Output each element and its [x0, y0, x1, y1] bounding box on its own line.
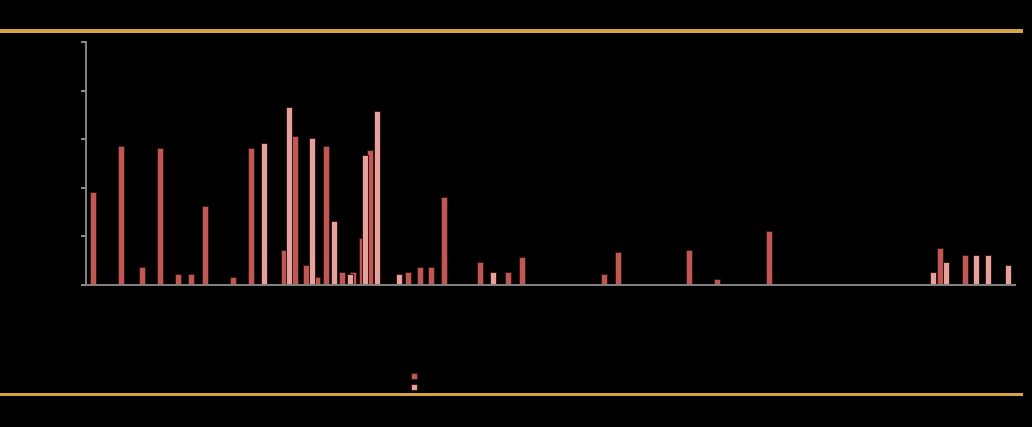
bar — [973, 255, 980, 284]
bar — [477, 262, 484, 284]
bar — [686, 250, 693, 284]
bar — [347, 274, 354, 284]
bar — [248, 148, 255, 284]
bar — [615, 252, 622, 284]
bar — [374, 111, 381, 284]
bar — [118, 146, 125, 285]
bar — [396, 274, 403, 284]
bar — [292, 136, 299, 284]
bar — [139, 267, 146, 284]
bar — [985, 255, 992, 284]
plot-region — [85, 41, 1016, 286]
bar — [943, 262, 950, 284]
bar — [230, 277, 237, 284]
bar — [519, 257, 526, 284]
chart-page — [0, 0, 1032, 427]
bar — [714, 279, 721, 284]
bottom-accent-rule — [0, 393, 1023, 396]
bar — [930, 272, 937, 284]
bar-series-container — [85, 41, 1016, 284]
legend-swatch-series-1 — [411, 384, 418, 391]
bar — [261, 143, 268, 284]
bar — [601, 274, 608, 284]
bar — [428, 267, 435, 284]
bar — [962, 255, 969, 284]
bar — [188, 274, 195, 284]
bar — [417, 267, 424, 284]
bar — [286, 107, 293, 284]
y-axis-tick — [81, 284, 86, 286]
bar — [405, 272, 412, 284]
bar — [490, 272, 497, 284]
bar — [331, 221, 338, 284]
bar — [323, 146, 330, 285]
legend-swatch-series-0 — [411, 373, 418, 380]
bar — [1005, 265, 1012, 284]
bar — [505, 272, 512, 284]
bar — [441, 197, 448, 284]
bar — [339, 272, 346, 284]
legend-entry — [411, 373, 423, 380]
bar — [202, 206, 209, 284]
x-axis-line — [85, 284, 1016, 286]
bar — [362, 155, 369, 284]
bar-chart — [0, 33, 1032, 393]
bar — [157, 148, 164, 284]
bar — [90, 192, 97, 284]
bar — [309, 138, 316, 284]
legend-entry — [411, 384, 423, 391]
bar — [766, 231, 773, 284]
bar — [175, 274, 182, 284]
